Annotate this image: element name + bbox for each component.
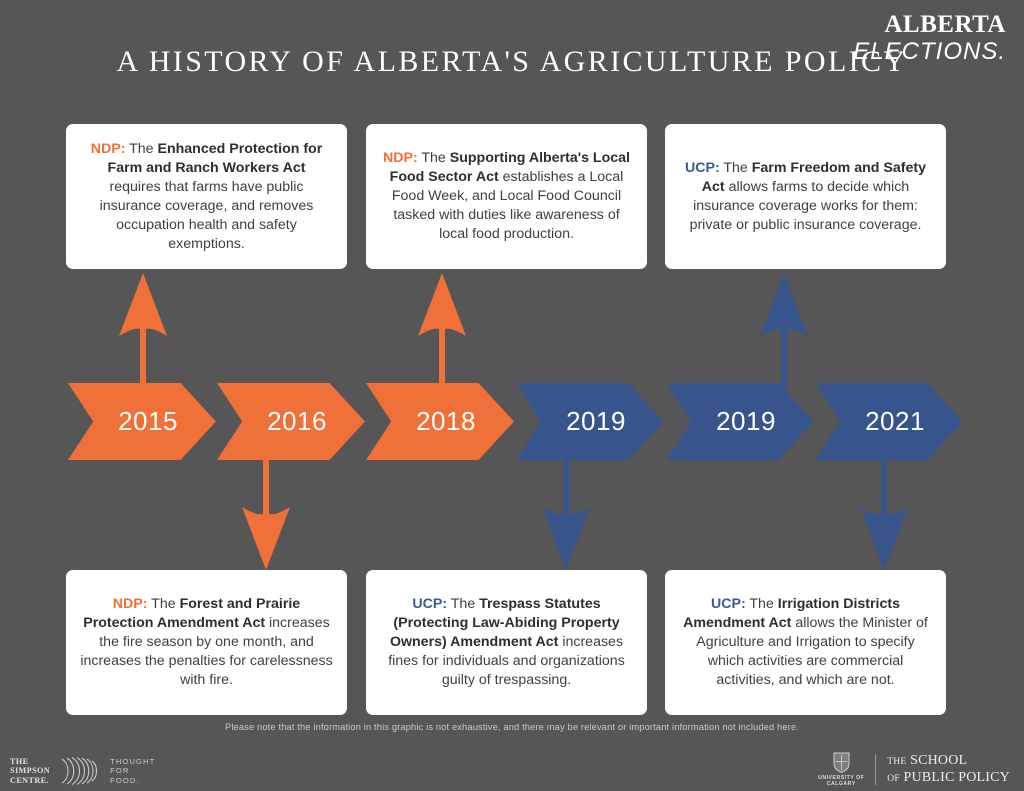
lead-text: The bbox=[447, 596, 479, 612]
sopp-of: OF bbox=[887, 774, 900, 784]
chevron-year-label: 2019 bbox=[704, 406, 776, 437]
policy-card-bottom-3: UCP: The Irrigation Districts Amendment … bbox=[665, 570, 946, 715]
party-label: UCP: bbox=[685, 160, 720, 176]
lead-text: The bbox=[720, 160, 752, 176]
connector-arrow-up-2015 bbox=[115, 273, 171, 388]
logo-divider bbox=[875, 754, 876, 785]
wave-lines-icon bbox=[59, 756, 101, 786]
connector-arrow-down-2019 bbox=[538, 455, 594, 570]
connector-arrow-down-2021 bbox=[856, 455, 912, 570]
party-label: NDP: bbox=[91, 141, 126, 157]
timeline-chevron-2018[interactable]: 2018 bbox=[366, 383, 514, 460]
lead-text: The bbox=[147, 596, 179, 612]
policy-card-text: NDP: The Enhanced Protection for Farm an… bbox=[80, 140, 333, 254]
chevron-year-label: 2018 bbox=[404, 406, 476, 437]
chevron-year-label: 2015 bbox=[106, 406, 178, 437]
tff-line-2: FOR bbox=[110, 766, 155, 776]
disclaimer-note: Please note that the information in this… bbox=[0, 722, 1024, 732]
policy-card-text: UCP: The Irrigation Districts Amendment … bbox=[679, 595, 932, 690]
sopp-wordmark: THE SCHOOL OF PUBLIC POLICY bbox=[887, 753, 1010, 787]
thought-for-food-wordmark: THOUGHT FOR FOOD. bbox=[110, 757, 155, 786]
party-label: UCP: bbox=[711, 596, 746, 612]
shield-icon bbox=[833, 752, 850, 773]
chevron-year-label: 2019 bbox=[554, 406, 626, 437]
university-of-calgary-logo: UNIVERSITY OF CALGARY bbox=[818, 752, 864, 787]
simpson-line-1: THE bbox=[10, 757, 50, 767]
lead-text: The bbox=[125, 141, 157, 157]
connector-arrow-up-2018 bbox=[414, 273, 470, 388]
chevron-year-label: 2021 bbox=[853, 406, 925, 437]
policy-card-top-3: UCP: The Farm Freedom and Safety Act all… bbox=[665, 124, 946, 269]
ucalgary-wordmark: UNIVERSITY OF CALGARY bbox=[818, 775, 864, 787]
infographic-canvas: A HISTORY OF ALBERTA'S AGRICULTURE POLIC… bbox=[0, 0, 1024, 791]
policy-card-top-1: NDP: The Enhanced Protection for Farm an… bbox=[66, 124, 347, 269]
policy-card-top-2: NDP: The Supporting Alberta's Local Food… bbox=[366, 124, 647, 269]
chevron-year-label: 2016 bbox=[255, 406, 327, 437]
party-label: NDP: bbox=[113, 596, 148, 612]
brand-elections-text: ELECTIONS. bbox=[853, 40, 1006, 64]
simpson-centre-logo: THE SIMPSON CENTRE. THOUGHT FOR FOOD. bbox=[10, 756, 155, 786]
connector-arrow-up-2019-ucp bbox=[756, 273, 812, 388]
sopp-line-1: THE SCHOOL bbox=[887, 753, 1010, 770]
policy-card-bottom-2: UCP: The Trespass Statutes (Protecting L… bbox=[366, 570, 647, 715]
policy-card-text: UCP: The Trespass Statutes (Protecting L… bbox=[380, 595, 633, 690]
tff-line-3: FOOD. bbox=[110, 776, 155, 786]
policy-card-bottom-1: NDP: The Forest and Prairie Protection A… bbox=[66, 570, 347, 715]
timeline-chevron-2016[interactable]: 2016 bbox=[217, 383, 365, 460]
policy-card-text: NDP: The Supporting Alberta's Local Food… bbox=[380, 149, 633, 244]
timeline-chevron-2019-a[interactable]: 2019 bbox=[516, 383, 664, 460]
simpson-centre-wordmark: THE SIMPSON CENTRE. bbox=[10, 757, 50, 786]
lead-text: The bbox=[746, 596, 778, 612]
brand-alberta-text: ALBERTA bbox=[853, 12, 1006, 37]
description-text: allows farms to decide which insurance c… bbox=[690, 179, 922, 233]
simpson-line-2: SIMPSON bbox=[10, 766, 50, 776]
party-label: UCP: bbox=[412, 596, 447, 612]
ucalgary-line-2: CALGARY bbox=[818, 781, 864, 787]
sopp-the: THE bbox=[887, 757, 906, 767]
description-text: requires that farms have public insuranc… bbox=[100, 179, 314, 252]
policy-card-text: NDP: The Forest and Prairie Protection A… bbox=[80, 595, 333, 690]
alberta-elections-logo: ALBERTA ELECTIONS. bbox=[853, 12, 1006, 64]
sopp-public-policy: PUBLIC POLICY bbox=[904, 770, 1010, 785]
policy-card-text: UCP: The Farm Freedom and Safety Act all… bbox=[679, 159, 932, 235]
party-label: NDP: bbox=[383, 150, 418, 166]
connector-arrow-down-2016 bbox=[238, 455, 294, 570]
tff-line-1: THOUGHT bbox=[110, 757, 155, 767]
sopp-school: SCHOOL bbox=[910, 753, 967, 768]
timeline-chevron-2021[interactable]: 2021 bbox=[815, 383, 963, 460]
lead-text: The bbox=[418, 150, 450, 166]
timeline-chevron-2015[interactable]: 2015 bbox=[68, 383, 216, 460]
simpson-line-3: CENTRE. bbox=[10, 776, 50, 786]
timeline-chevron-2019-b[interactable]: 2019 bbox=[666, 383, 814, 460]
sopp-line-2: OF PUBLIC POLICY bbox=[887, 770, 1010, 787]
school-of-public-policy-logo: UNIVERSITY OF CALGARY THE SCHOOL OF PUBL… bbox=[818, 752, 1010, 787]
